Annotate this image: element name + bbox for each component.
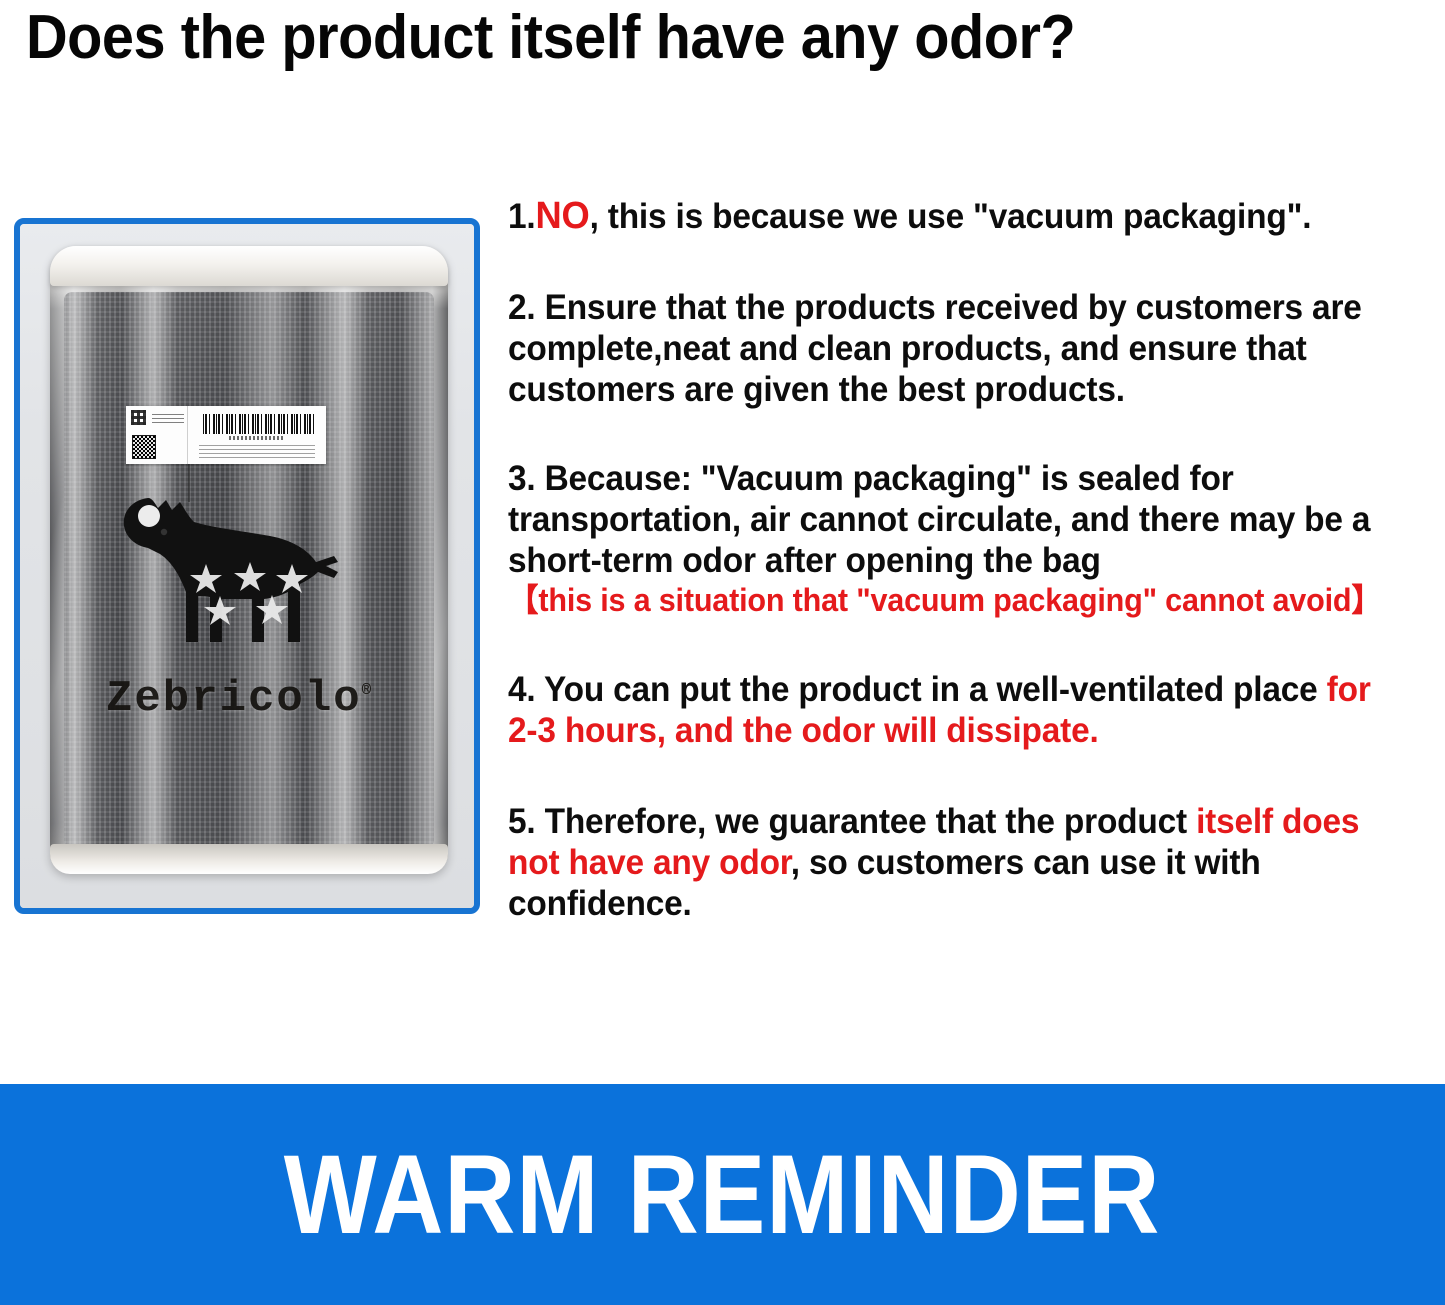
qr-code-icon <box>132 435 156 459</box>
faq-point-4: 4. You can put the product in a well-ven… <box>508 669 1387 751</box>
datamatrix-code-icon <box>131 410 146 425</box>
faq-point-2: 2. Ensure that the products received by … <box>508 287 1387 410</box>
faq-point-5: 5. Therefore, we guarantee that the prod… <box>508 801 1387 924</box>
shipping-label-codes <box>126 406 188 464</box>
faq-text-column: 1.NO, this is because we use "vacuum pac… <box>508 196 1428 924</box>
brand-wordmark: Zebricolo® <box>106 674 373 724</box>
faq-point-1: 1.NO, this is because we use "vacuum pac… <box>508 196 1387 237</box>
point-4-body: 4. You can put the product in a well-ven… <box>508 670 1327 709</box>
brand-name-text: Zebricolo <box>106 674 362 724</box>
point-3-red-note: 【this is a situation that "vacuum packag… <box>508 581 1387 619</box>
point-1-number: 1. <box>508 197 536 236</box>
shipping-label <box>126 406 326 464</box>
infographic-page: Does the product itself have any odor? <box>0 0 1445 1305</box>
label-microtext <box>152 411 184 423</box>
registered-mark: ® <box>362 681 374 699</box>
point-5-body-a: 5. Therefore, we guarantee that the prod… <box>508 802 1196 841</box>
barcode-icon <box>203 414 315 434</box>
point-1-body: , this is because we use "vacuum packagi… <box>590 197 1312 236</box>
point-3-body: 3. Because: "Vacuum packaging" is sealed… <box>508 459 1370 580</box>
barcode-number <box>229 436 285 440</box>
product-photo-frame: Zebricolo® <box>14 218 480 914</box>
bag-bottom-seal <box>50 844 448 874</box>
warm-reminder-banner: WARM REMINDER <box>0 1084 1445 1305</box>
bag-top-seal <box>50 246 448 286</box>
shipping-label-barcode-area <box>188 406 326 464</box>
label-description-lines <box>199 442 315 458</box>
point-2-body: 2. Ensure that the products received by … <box>508 288 1362 409</box>
faq-point-3: 3. Because: "Vacuum packaging" is sealed… <box>508 458 1387 619</box>
banner-title: WARM REMINDER <box>284 1139 1161 1251</box>
point-1-no-emphasis: NO <box>536 195 590 237</box>
product-photo: Zebricolo® <box>20 224 474 908</box>
zebra-logo-icon <box>102 492 352 682</box>
page-title: Does the product itself have any odor? <box>26 2 1328 74</box>
